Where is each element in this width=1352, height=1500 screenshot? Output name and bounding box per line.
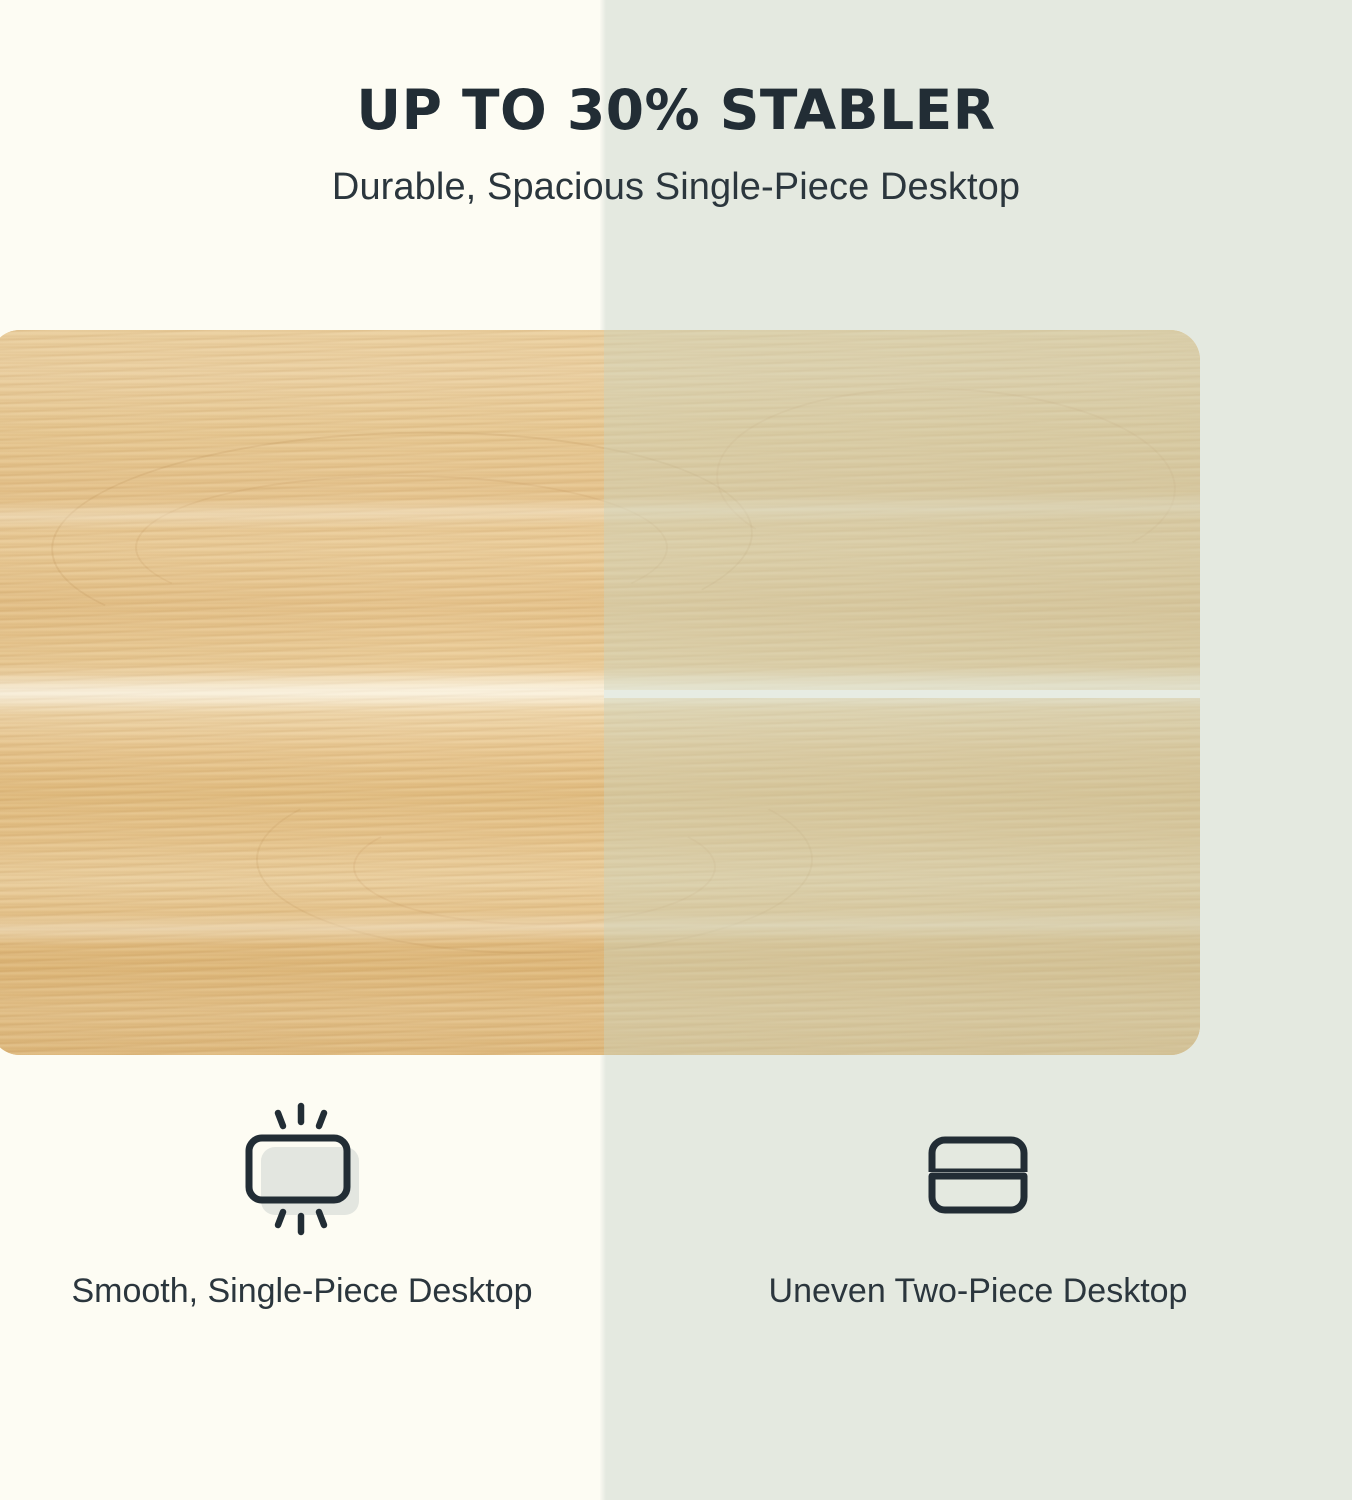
comparison-column-right: Uneven Two-Piece Desktop: [604, 1090, 1352, 1450]
comparison-label-left: Smooth, Single-Piece Desktop: [71, 1270, 532, 1314]
comparison-column-left: Smooth, Single-Piece Desktop: [0, 1090, 604, 1450]
two-piece-desktop-icon: [913, 1090, 1043, 1260]
desktop-surface: [0, 330, 1200, 1055]
single-piece-desktop-icon: [232, 1090, 372, 1260]
header: UP TO 30% STABLER Durable, Spacious Sing…: [0, 0, 1352, 300]
two-piece-desktop-glyph: [913, 1120, 1043, 1230]
headline: UP TO 30% STABLER: [0, 82, 1352, 140]
desktop-seam-line: [604, 690, 1200, 698]
single-piece-desktop-glyph: [232, 1100, 372, 1250]
desktop-hero-image: [0, 330, 1200, 1055]
comparison-graphic: UP TO 30% STABLER Durable, Spacious Sing…: [0, 0, 1352, 1500]
comparison-row: Smooth, Single-Piece Desktop Uneven Two-…: [0, 1090, 1352, 1450]
subheadline: Durable, Spacious Single-Piece Desktop: [0, 166, 1352, 209]
comparison-label-right: Uneven Two-Piece Desktop: [769, 1270, 1188, 1314]
